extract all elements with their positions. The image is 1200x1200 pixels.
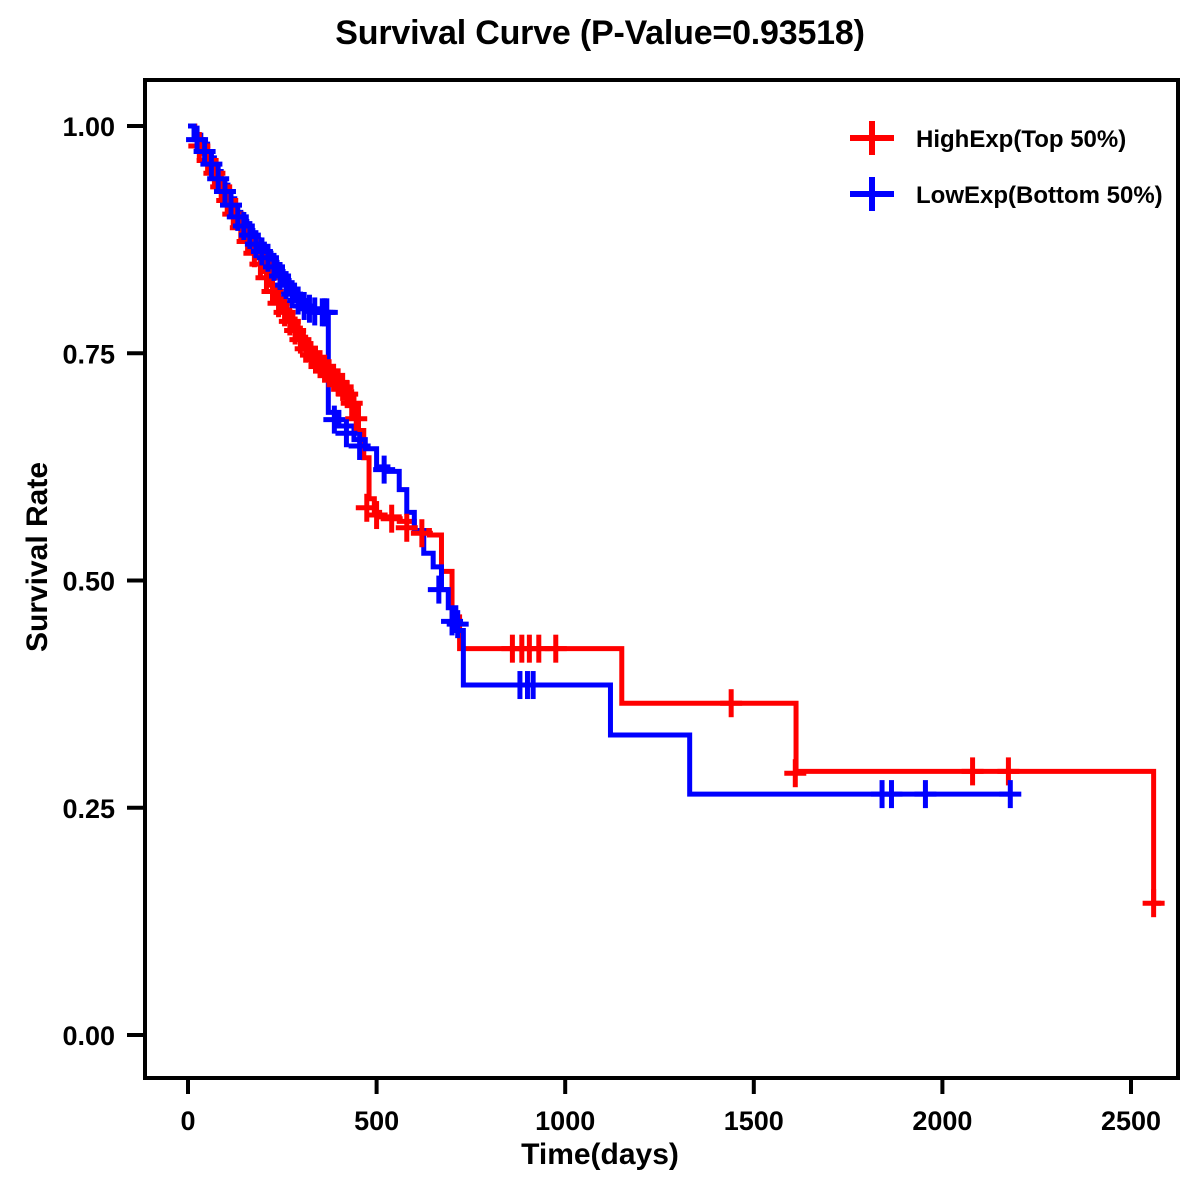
y-tick-label: 0.25 <box>62 794 115 824</box>
legend: HighExp(Top 50%)LowExp(Bottom 50%) <box>850 121 1163 211</box>
plot-area: 050010001500200025000.000.250.500.751.00… <box>0 0 1200 1200</box>
x-tick-label: 1500 <box>724 1106 784 1136</box>
censor-mark-icon <box>784 759 806 787</box>
axis-tick-labels: 050010001500200025000.000.250.500.751.00 <box>62 112 1161 1136</box>
series-curves <box>188 126 1161 903</box>
x-tick-label: 2500 <box>1101 1106 1161 1136</box>
legend-censor-icon <box>850 177 894 211</box>
legend-label: HighExp(Top 50%) <box>916 126 1126 153</box>
x-tick-label: 500 <box>354 1106 399 1136</box>
x-tick-label: 0 <box>180 1106 195 1136</box>
x-tick-label: 2000 <box>912 1106 972 1136</box>
series-line-lowexp <box>188 126 1012 794</box>
censor-mark-icon <box>962 757 984 785</box>
censor-mark-icon <box>1143 889 1165 917</box>
x-tick-label: 1000 <box>535 1106 595 1136</box>
y-tick-label: 0.75 <box>62 339 115 369</box>
y-tick-label: 1.00 <box>62 112 115 142</box>
censor-mark-icon <box>316 298 338 326</box>
legend-item-lowexp[interactable]: LowExp(Bottom 50%) <box>850 177 1163 211</box>
censor-mark-icon <box>914 780 936 808</box>
legend-item-highexp[interactable]: HighExp(Top 50%) <box>850 121 1126 155</box>
legend-label: LowExp(Bottom 50%) <box>916 182 1163 209</box>
y-tick-label: 0.00 <box>62 1021 115 1051</box>
censor-mark-icon <box>999 780 1021 808</box>
censor-mark-icon <box>720 689 742 717</box>
series-line-highexp <box>188 126 1161 903</box>
censor-mark-icon <box>545 635 567 663</box>
survival-curve-figure: Survival Curve (P-Value=0.93518) Surviva… <box>0 0 1200 1200</box>
plot-frame <box>145 80 1178 1078</box>
legend-censor-icon <box>850 121 894 155</box>
y-tick-label: 0.50 <box>62 567 115 597</box>
censor-marks <box>186 126 1165 918</box>
